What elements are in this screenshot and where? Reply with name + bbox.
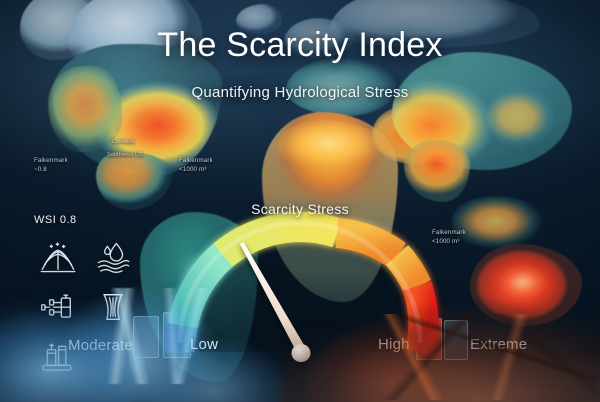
indicator-cell-surface-water[interactable] (85, 236, 140, 278)
water-droplet-waves-icon (94, 240, 132, 274)
foreground-wet-sheen (0, 344, 600, 402)
wsi-readout: WSI 0.8 (34, 214, 77, 226)
gauge-title: Scarcity Stress (140, 201, 460, 217)
infographic-canvas: The Scarcity Index Quantifying Hydrologi… (0, 0, 600, 402)
page-subtitle: Quantifying Hydrological Stress (0, 84, 600, 101)
agricultural-field-icon (39, 240, 77, 274)
gauge-band-high-2 (397, 255, 417, 286)
page-title: The Scarcity Index (0, 26, 600, 65)
indicator-cell-agriculture[interactable] (30, 236, 85, 278)
